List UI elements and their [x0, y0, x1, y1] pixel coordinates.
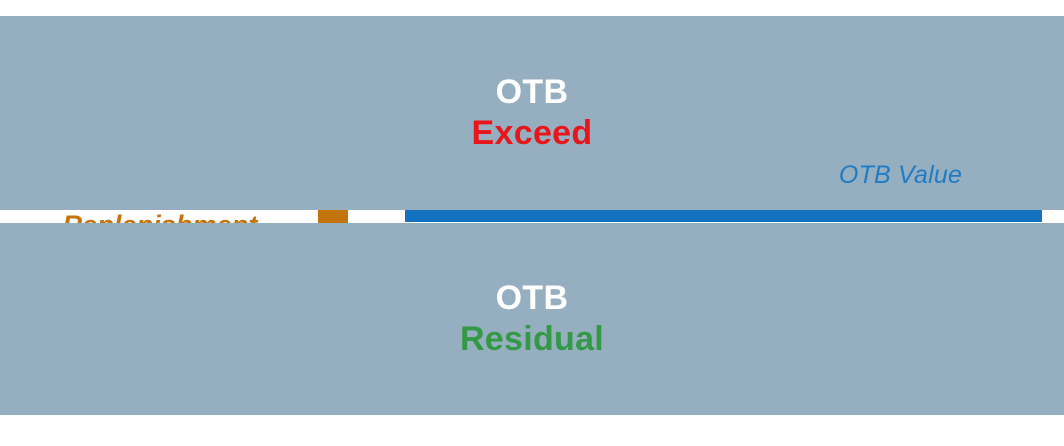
otb-value-threshold-line — [405, 210, 1042, 222]
otb-residual-title: OTB — [496, 278, 569, 319]
otb-exceed-title: OTB — [496, 72, 569, 113]
otb-residual-subtitle: Residual — [460, 319, 604, 360]
otb-exceed-subtitle: Exceed — [472, 113, 593, 154]
bar-segment-otb-residual: OTB Residual — [0, 223, 1064, 415]
otb-value-label: OTB Value — [798, 161, 1003, 190]
diagram-canvas: Replenishment Plan Value OTB Exceed OTB … — [0, 0, 1064, 446]
